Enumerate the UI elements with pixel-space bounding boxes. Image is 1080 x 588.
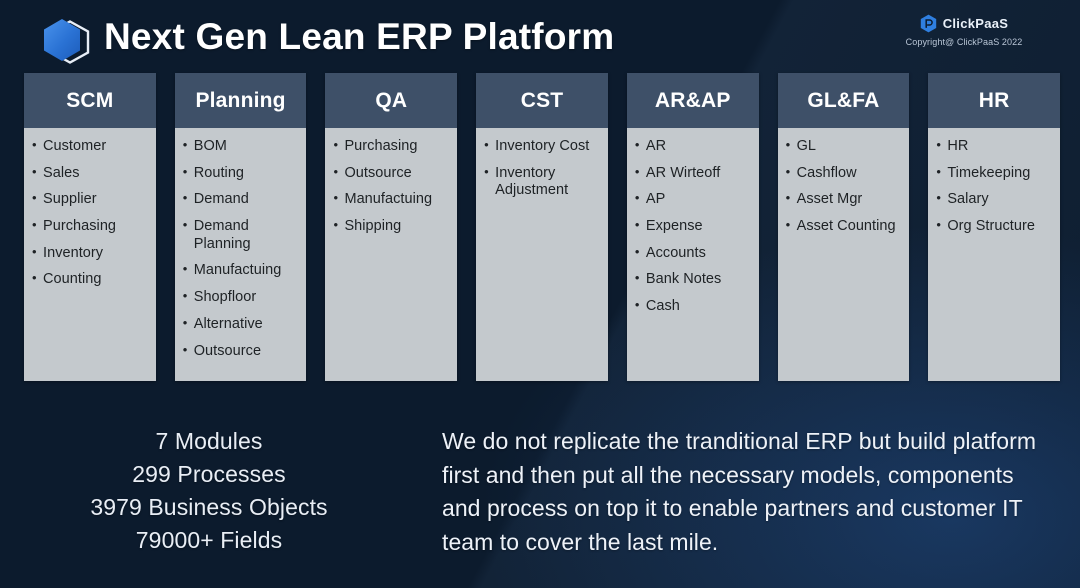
module-item[interactable]: Shipping	[333, 218, 449, 236]
module-item-list: ARAR WirteoffAPExpenseAccountsBank Notes…	[635, 138, 751, 316]
module-item[interactable]: Sales	[32, 165, 148, 183]
copyright-text: Copyright@ ClickPaaS 2022	[864, 37, 1064, 47]
module-item[interactable]: Accounts	[635, 245, 751, 263]
stats-block: 7 Modules299 Processes3979 Business Obje…	[24, 425, 394, 557]
module-item[interactable]: Outsource	[333, 165, 449, 183]
module-card[interactable]: PlanningBOMRoutingDemandDemand PlanningM…	[175, 73, 307, 381]
module-cards-row: SCMCustomerSalesSupplierPurchasingInvent…	[24, 73, 1060, 381]
module-item-list: CustomerSalesSupplierPurchasingInventory…	[32, 138, 148, 289]
module-card-title: SCM	[66, 89, 113, 113]
module-card-header: Planning	[175, 73, 307, 128]
module-item-list: PurchasingOutsourceManufactuingShipping	[333, 138, 449, 236]
module-card-body: BOMRoutingDemandDemand PlanningManufactu…	[175, 128, 307, 381]
module-card-title: QA	[375, 89, 407, 113]
module-item[interactable]: Outsource	[183, 343, 299, 361]
page-title: Next Gen Lean ERP Platform	[104, 16, 614, 58]
module-item[interactable]: Cashflow	[786, 165, 902, 183]
module-card-body: CustomerSalesSupplierPurchasingInventory…	[24, 128, 156, 381]
module-item-list: GLCashflowAsset MgrAsset Counting	[786, 138, 902, 236]
module-item[interactable]: Expense	[635, 218, 751, 236]
module-item[interactable]: HR	[936, 138, 1052, 156]
module-card-body: HRTimekeepingSalaryOrg Structure	[928, 128, 1060, 381]
module-item[interactable]: Purchasing	[32, 218, 148, 236]
module-card[interactable]: CSTInventory CostInventory Adjustment	[476, 73, 608, 381]
module-card-header: GL&FA	[778, 73, 910, 128]
slide-header: Next Gen Lean ERP Platform ClickPaaS Cop…	[0, 0, 1080, 72]
module-item-list: HRTimekeepingSalaryOrg Structure	[936, 138, 1052, 236]
module-card[interactable]: HRHRTimekeepingSalaryOrg Structure	[928, 73, 1060, 381]
module-item[interactable]: Inventory Cost	[484, 138, 600, 156]
module-card-body: GLCashflowAsset MgrAsset Counting	[778, 128, 910, 381]
stat-line: 79000+ Fields	[24, 524, 394, 557]
module-item[interactable]: Customer	[32, 138, 148, 156]
module-item[interactable]: Manufactuing	[333, 191, 449, 209]
module-card-title: HR	[979, 89, 1010, 113]
module-item[interactable]: Asset Mgr	[786, 191, 902, 209]
stat-line: 3979 Business Objects	[24, 491, 394, 524]
module-item[interactable]: AR	[635, 138, 751, 156]
module-item[interactable]: Manufactuing	[183, 262, 299, 280]
module-card-title: Planning	[195, 89, 285, 113]
module-item[interactable]: Demand	[183, 191, 299, 209]
module-item-list: Inventory CostInventory Adjustment	[484, 138, 600, 200]
module-item[interactable]: AP	[635, 191, 751, 209]
module-item[interactable]: Supplier	[32, 191, 148, 209]
module-card-header: HR	[928, 73, 1060, 128]
module-card-body: PurchasingOutsourceManufactuingShipping	[325, 128, 457, 381]
module-item[interactable]: Inventory Adjustment	[484, 165, 600, 200]
module-card-body: Inventory CostInventory Adjustment	[476, 128, 608, 381]
module-card[interactable]: AR&APARAR WirteoffAPExpenseAccountsBank …	[627, 73, 759, 381]
module-item[interactable]: BOM	[183, 138, 299, 156]
module-card-title: CST	[521, 89, 564, 113]
hexagon-logo-icon	[38, 16, 92, 66]
module-item[interactable]: AR Wirteoff	[635, 165, 751, 183]
module-card-title: AR&AP	[655, 89, 731, 113]
module-item[interactable]: Salary	[936, 191, 1052, 209]
module-card-header: AR&AP	[627, 73, 759, 128]
module-card-header: SCM	[24, 73, 156, 128]
summary-blurb: We do not replicate the tranditional ERP…	[442, 425, 1057, 559]
hexagon-fill-icon	[42, 18, 82, 62]
module-item[interactable]: Bank Notes	[635, 271, 751, 289]
module-item[interactable]: Cash	[635, 298, 751, 316]
module-item[interactable]: Routing	[183, 165, 299, 183]
stat-line: 7 Modules	[24, 425, 394, 458]
module-card-header: CST	[476, 73, 608, 128]
module-card[interactable]: GL&FAGLCashflowAsset MgrAsset Counting	[778, 73, 910, 381]
module-item[interactable]: Timekeeping	[936, 165, 1052, 183]
module-item[interactable]: Shopfloor	[183, 289, 299, 307]
module-item[interactable]: Counting	[32, 271, 148, 289]
module-card[interactable]: QAPurchasingOutsourceManufactuingShippin…	[325, 73, 457, 381]
module-item[interactable]: Alternative	[183, 316, 299, 334]
module-item[interactable]: Asset Counting	[786, 218, 902, 236]
module-item[interactable]: Org Structure	[936, 218, 1052, 236]
module-item[interactable]: Inventory	[32, 245, 148, 263]
stat-line: 299 Processes	[24, 458, 394, 491]
module-item[interactable]: Purchasing	[333, 138, 449, 156]
slide-root: Next Gen Lean ERP Platform ClickPaaS Cop…	[0, 0, 1080, 588]
clickpaas-hexagon-icon	[920, 14, 937, 33]
module-card-title: GL&FA	[807, 89, 879, 113]
brand-name: ClickPaaS	[943, 16, 1009, 31]
brand-block: ClickPaaS Copyright@ ClickPaaS 2022	[864, 14, 1064, 47]
module-card-header: QA	[325, 73, 457, 128]
module-card-body: ARAR WirteoffAPExpenseAccountsBank Notes…	[627, 128, 759, 381]
module-item-list: BOMRoutingDemandDemand PlanningManufactu…	[183, 138, 299, 360]
module-card[interactable]: SCMCustomerSalesSupplierPurchasingInvent…	[24, 73, 156, 381]
module-item[interactable]: Demand Planning	[183, 218, 299, 253]
module-item[interactable]: GL	[786, 138, 902, 156]
